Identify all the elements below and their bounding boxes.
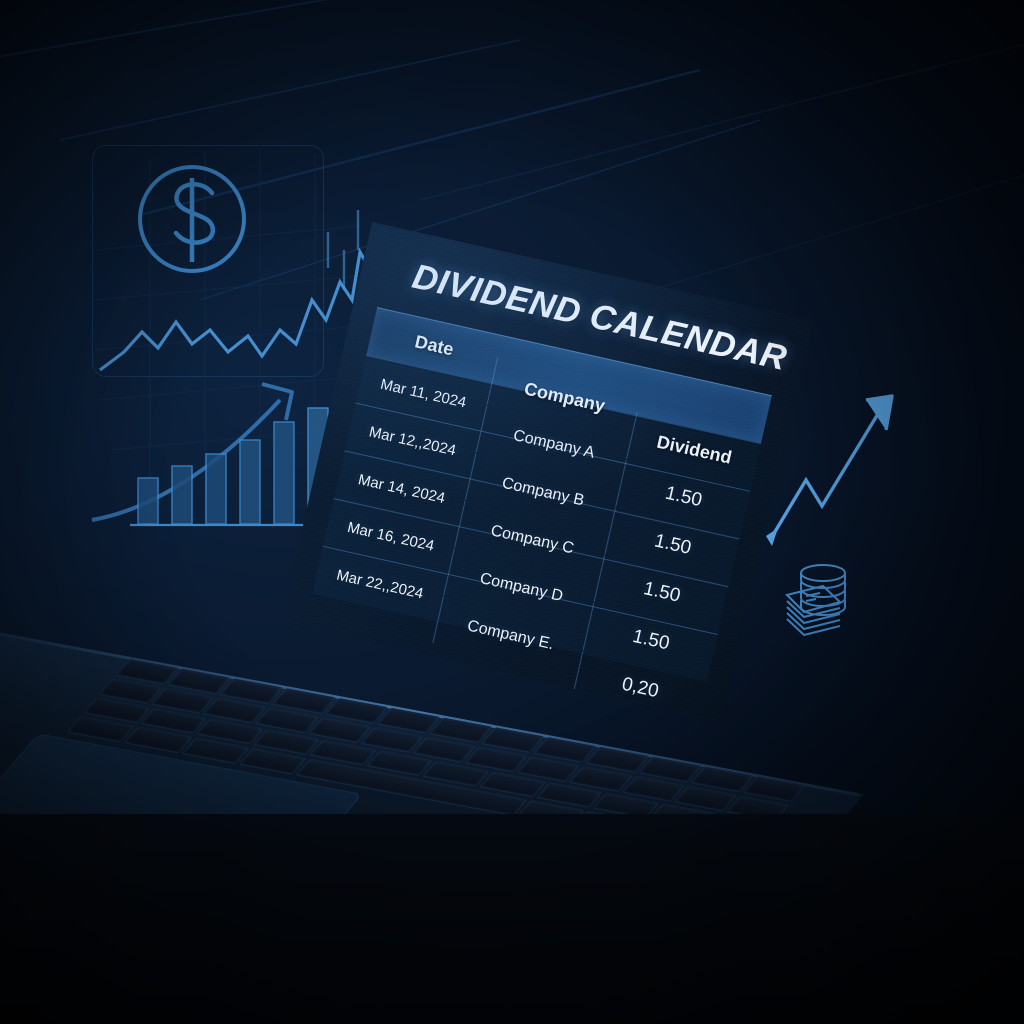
vignette-overlay	[0, 0, 1024, 1024]
laptop: DIVIDEND CALENDAR Date Company Dividend …	[0, 0, 1024, 1024]
